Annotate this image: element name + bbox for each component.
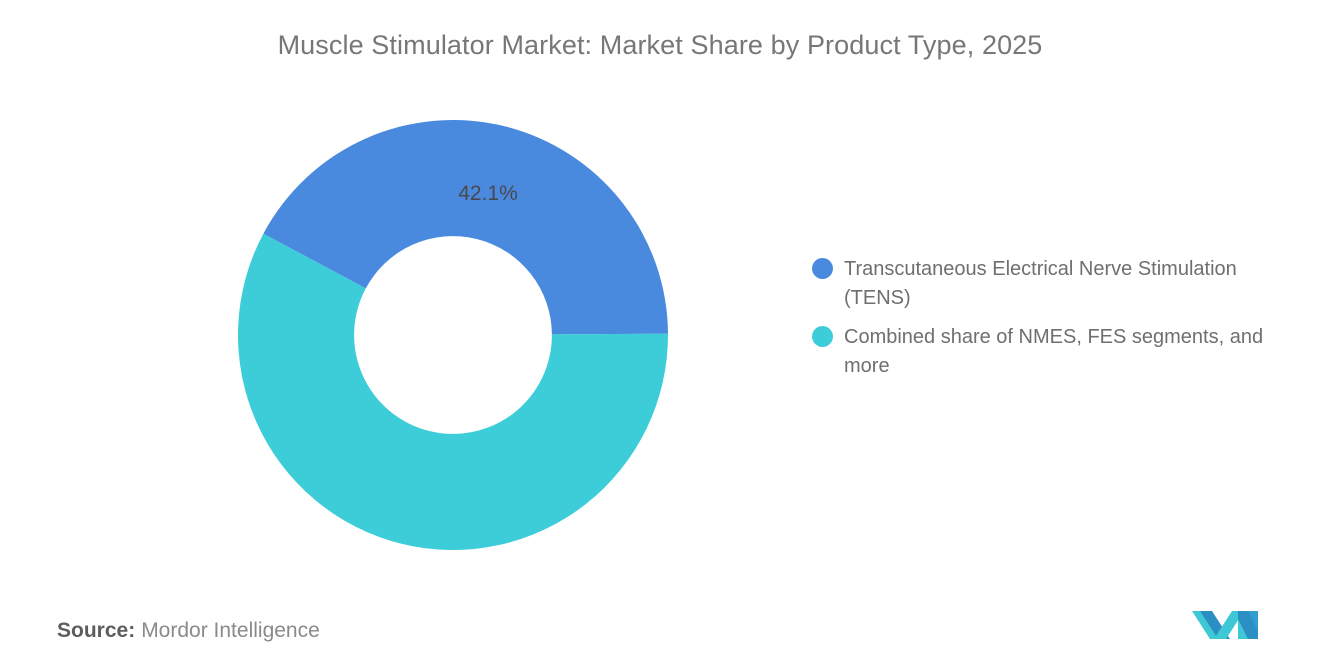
source-label: Source: [57,619,135,642]
legend-item-label: Transcutaneous Electrical Nerve Stimulat… [844,255,1304,313]
legend-color-swatch-icon [812,326,833,347]
mordor-intelligence-logo-icon [1190,605,1262,645]
chart-title: Muscle Stimulator Market: Market Share b… [0,30,1320,61]
source-line: Source:Mordor Intelligence [57,619,320,643]
source-value: Mordor Intelligence [141,619,320,642]
donut-slices [238,120,668,550]
chart-footer: Source:Mordor Intelligence [0,575,1320,665]
donut-chart-plot [238,120,668,550]
legend-item-label: Combined share of NMES, FES segments, an… [844,323,1304,381]
chart-legend: Transcutaneous Electrical Nerve Stimulat… [812,255,1312,391]
legend-color-swatch-icon [812,258,833,279]
legend-item-tens[interactable]: Transcutaneous Electrical Nerve Stimulat… [812,255,1312,313]
legend-item-other[interactable]: Combined share of NMES, FES segments, an… [812,323,1312,381]
chart-container: Muscle Stimulator Market: Market Share b… [0,0,1320,665]
donut-svg [238,120,668,550]
